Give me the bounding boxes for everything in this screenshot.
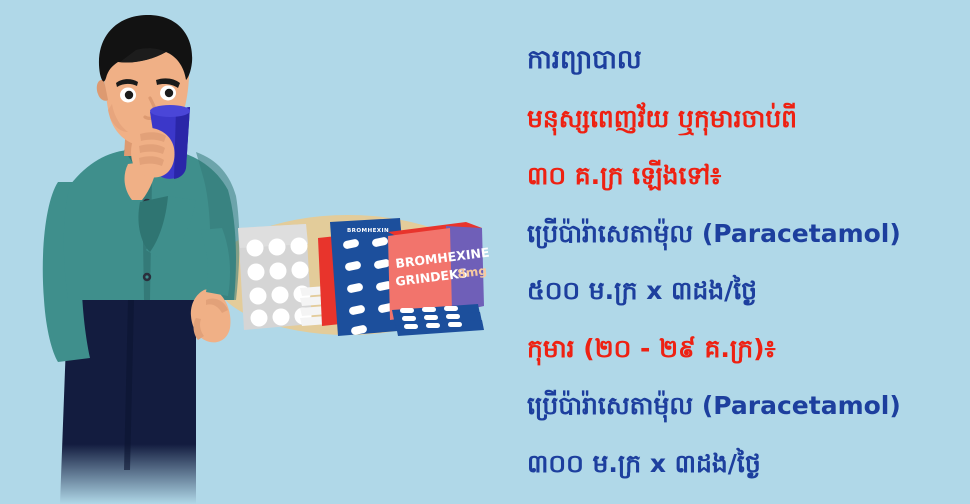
pill [247, 240, 264, 257]
stack-capsule [422, 307, 436, 312]
text-line-adults-dose: ៥០០ ម.ក្រ x ៣ដង/ថ្ងៃ [527, 262, 967, 320]
tablet-sheet [238, 224, 312, 330]
stack-capsule [444, 306, 458, 311]
illustration-panel: BROMHEXIN [0, 0, 500, 504]
eye-left-pupil [125, 91, 133, 99]
stack-capsule [446, 314, 460, 319]
stack-capsule [400, 308, 414, 313]
illustration-svg: BROMHEXIN [0, 0, 500, 504]
stack-capsule [404, 324, 418, 329]
text-column: ការព្យាបាល មនុស្សពេញវ័យ ឬកុមារចាប់ពី ៣០ … [527, 32, 967, 492]
pill [272, 287, 289, 304]
pill [269, 239, 286, 256]
pill [250, 288, 267, 305]
pill [273, 309, 290, 326]
pill [251, 310, 268, 327]
stack-capsule [402, 316, 416, 321]
stack-capsule [424, 315, 438, 320]
eye-right-pupil [165, 89, 173, 97]
stack-capsule [426, 323, 440, 328]
text-line-adults-intro: មនុស្សពេញវ័យ ឬកុមារចាប់ពី [527, 90, 967, 148]
pill [292, 262, 309, 279]
text-line-adults-drug: ប្រើប៉ារ៉ាសេតាម៉ុល (Paracetamol) [527, 205, 967, 263]
pill [270, 263, 287, 280]
text-line-children-drug: ប្រើប៉ារ៉ាសេតាម៉ុល (Paracetamol) [527, 377, 967, 435]
blister-strip-label: BROMHEXIN [347, 228, 389, 234]
shirt-button-hole [145, 275, 148, 278]
text-line-heading: ការព្យាបាល [527, 32, 967, 90]
text-line-children-dose: ៣០០ ម.ក្រ x ៣ដង/ថ្ងៃ [527, 435, 967, 493]
pill [248, 264, 265, 281]
pill [291, 238, 308, 255]
stack-capsule [448, 322, 462, 327]
text-line-children-weight: កុមារ (២០ - ២៩ គ.ក្រ)៖ [527, 320, 967, 378]
blister-stack-highlights [400, 306, 462, 329]
medicines-group: BROMHEXIN [238, 218, 490, 336]
cup-rim [150, 105, 190, 117]
poster-root: BROMHEXIN [0, 0, 970, 504]
text-line-adults-weight: ៣០ គ.ក្រ ឡើងទៅ៖ [527, 147, 967, 205]
